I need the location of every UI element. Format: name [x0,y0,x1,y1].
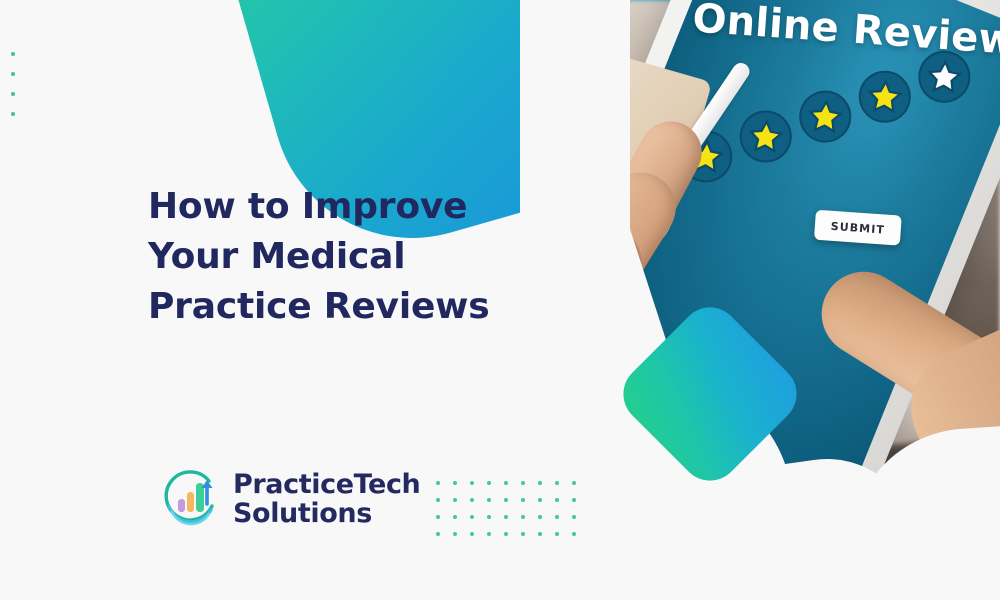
hero-photo: Online Reviews [520,0,1000,600]
dot [470,481,474,485]
dot [11,52,15,56]
dot [538,498,542,502]
dot [436,532,440,536]
dot [538,481,542,485]
dot [504,498,508,502]
dot [538,515,542,519]
submit-button[interactable]: SUBMIT [814,210,902,246]
star-icon [865,76,906,117]
dot [555,515,559,519]
dot [487,515,491,519]
dot [453,532,457,536]
dot [504,532,508,536]
dot [555,532,559,536]
banner-canvas: Online Reviews [0,0,1000,600]
chart-growth-arrow-icon [157,466,223,532]
star-badge-filled[interactable] [798,89,854,145]
dot [521,481,525,485]
dot [436,498,440,502]
dot [572,515,576,519]
dot-grid-decoration [436,481,589,549]
dot [572,481,576,485]
dot [504,515,508,519]
dot [453,515,457,519]
dot [11,112,15,116]
dot [521,515,525,519]
dot [470,532,474,536]
dot [555,481,559,485]
brand-logo[interactable]: PracticeTech Solutions [157,466,420,532]
dot [487,532,491,536]
dot [538,532,542,536]
dot [470,515,474,519]
dot [436,481,440,485]
dot [436,515,440,519]
dot [487,498,491,502]
star-icon [924,57,965,98]
dot [11,72,15,76]
dot [470,498,474,502]
dot [521,532,525,536]
dot [572,532,576,536]
brand-name-line1: PracticeTech [233,469,420,500]
star-icon [805,96,846,137]
dot [521,498,525,502]
dot [504,481,508,485]
brand-name-line2: Solutions [233,498,372,529]
dot [11,92,15,96]
brand-name: PracticeTech Solutions [233,470,420,528]
dot [555,498,559,502]
dot [453,481,457,485]
dot-column-decoration [11,52,15,116]
page-title: How to Improve Your Medical Practice Rev… [148,182,498,332]
star-badge-filled[interactable] [857,69,913,125]
dot [572,498,576,502]
dot [487,481,491,485]
dot [453,498,457,502]
